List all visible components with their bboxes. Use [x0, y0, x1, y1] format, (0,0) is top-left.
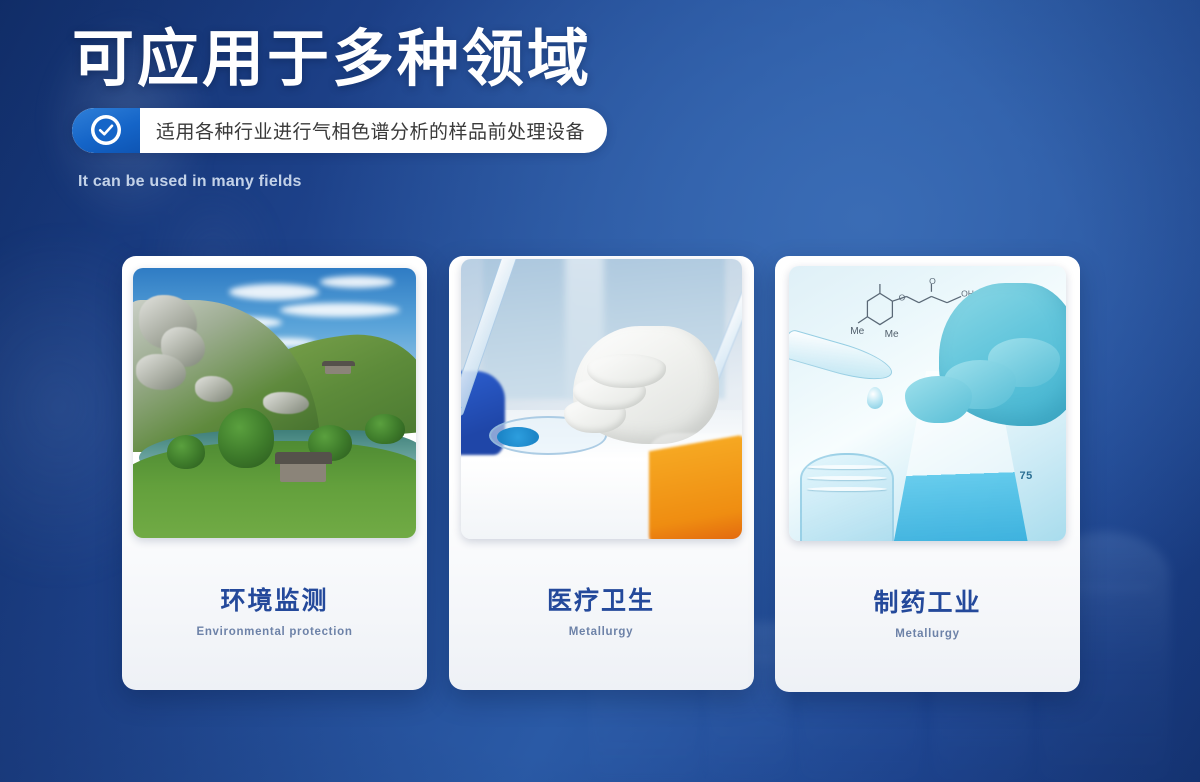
card-subtitle: Metallurgy — [895, 628, 960, 640]
tagline-text: 适用各种行业进行气相色谱分析的样品前处理设备 — [140, 108, 607, 153]
card-text-pharma: 制药工业 Metallurgy — [775, 541, 1080, 692]
card-subtitle: Metallurgy — [569, 626, 634, 638]
formula-label-o: O — [899, 293, 906, 303]
card-title: 制药工业 — [873, 583, 981, 619]
card-photo-pharma: O O OH Me Me 100 75 — [789, 266, 1066, 541]
beaker-tick-75: 75 — [1020, 470, 1033, 482]
tagline-badge — [72, 108, 140, 153]
page-header: 可应用于多种领域 适用各种行业进行气相色谱分析的样品前处理设备 It can b… — [72, 28, 607, 191]
card-photo-environment — [133, 268, 416, 538]
card-text-environment: 环境监测 Environmental protection — [122, 538, 427, 690]
svg-text:Me: Me — [851, 326, 865, 337]
card-subtitle: Environmental protection — [196, 626, 352, 638]
application-cards: 环境监测 Environmental protection — [122, 256, 1080, 692]
page-title: 可应用于多种领域 — [72, 28, 607, 94]
tagline-pill: 适用各种行业进行气相色谱分析的样品前处理设备 — [72, 108, 607, 153]
card-photo-medical — [461, 259, 742, 539]
application-card-medical[interactable]: 医疗卫生 Metallurgy — [449, 256, 754, 690]
card-title: 医疗卫生 — [547, 581, 655, 617]
application-card-environment[interactable]: 环境监测 Environmental protection — [122, 256, 427, 690]
subtitle-english: It can be used in many fields — [78, 173, 607, 191]
card-title: 环境监测 — [220, 581, 328, 617]
card-text-medical: 医疗卫生 Metallurgy — [449, 539, 754, 690]
svg-text:O: O — [929, 276, 936, 286]
svg-text:Me: Me — [885, 329, 899, 340]
application-card-pharma[interactable]: O O OH Me Me 100 75 — [775, 256, 1080, 692]
check-circle-icon — [91, 115, 121, 145]
